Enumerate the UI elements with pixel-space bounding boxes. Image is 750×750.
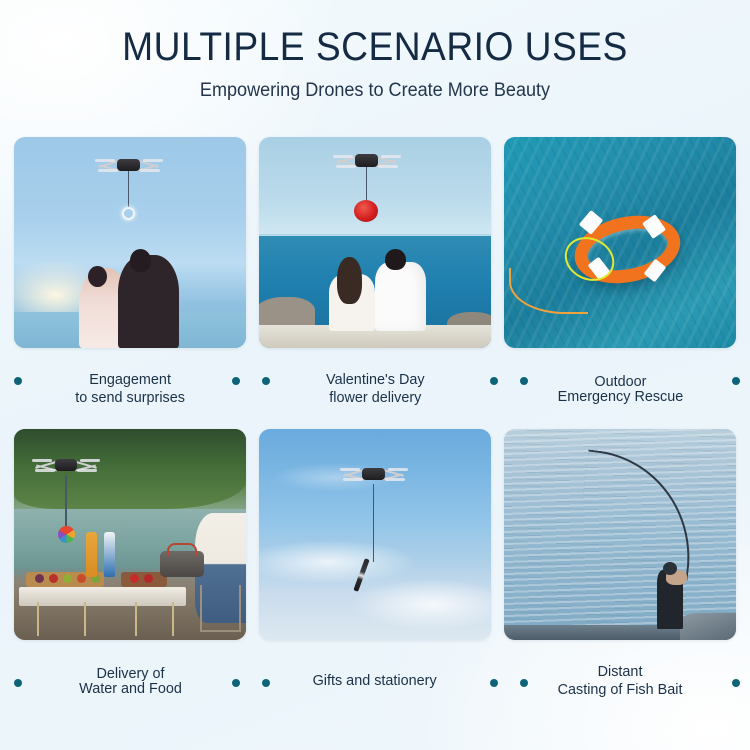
scenario-caption-fish-bait: Distant Casting of Fish Bait — [558, 663, 683, 698]
caption-wrap-gifts: Gifts and stationery — [259, 640, 491, 721]
fruit-item — [49, 574, 58, 583]
kettle-handle — [167, 543, 197, 556]
horizon-line — [259, 235, 491, 236]
scenario-image-rescue[interactable] — [504, 137, 736, 348]
separator-dot — [732, 377, 740, 385]
drone-tether — [65, 475, 67, 528]
separator-dot — [262, 377, 270, 385]
scenario-image-fish-bait[interactable] — [504, 429, 736, 640]
man-figure — [375, 262, 426, 332]
scene-drone-in-sky-delivering-pen — [259, 429, 491, 640]
water-bottle — [104, 532, 115, 576]
table-leg — [84, 602, 86, 636]
table-leg — [135, 602, 137, 636]
scenario-card-fish-bait[interactable]: Distant Casting of Fish Bait — [504, 429, 736, 721]
scenario-caption-engagement: Engagement to send surprises — [75, 371, 185, 406]
separator-dot — [520, 377, 528, 385]
scenario-card-water-food[interactable]: Delivery of Water and Food — [14, 429, 246, 721]
lollipop — [58, 526, 75, 543]
scene-orange-life-ring-floating-on-water — [504, 137, 736, 348]
juice-bottle — [86, 532, 97, 576]
page-subtitle: Empowering Drones to Create More Beauty — [19, 80, 732, 102]
groom-figure — [118, 255, 178, 348]
caption-wrap-rescue: Outdoor Emergency Rescue — [504, 348, 736, 429]
separator-dot — [232, 679, 240, 687]
fruit-item — [130, 574, 139, 583]
separator-dot — [490, 679, 498, 687]
drone-tether — [128, 171, 130, 209]
separator-dot — [14, 679, 22, 687]
separator-dot — [232, 377, 240, 385]
picnic-table — [19, 587, 186, 606]
separator-dot — [732, 679, 740, 687]
scenario-card-engagement[interactable]: Engagement to send surprises — [14, 137, 246, 429]
drone-icon — [35, 454, 97, 476]
rose-bouquet — [354, 200, 378, 222]
scenario-card-rescue[interactable]: Outdoor Emergency Rescue — [504, 137, 736, 429]
caption-wrap-valentines: Valentine's Day flower delivery — [259, 348, 491, 429]
fruit-item — [144, 574, 153, 583]
table-leg — [37, 602, 39, 636]
fruit-item — [77, 574, 86, 583]
page-title: MULTIPLE SCENARIO USES — [26, 24, 724, 70]
scene-lakeside-picnic-drone-delivering-lollipop — [14, 429, 246, 640]
drone-tether — [373, 484, 375, 562]
scenario-card-gifts[interactable]: Gifts and stationery — [259, 429, 491, 721]
caption-wrap-engagement: Engagement to send surprises — [14, 348, 246, 429]
scenario-caption-valentines: Valentine's Day flower delivery — [326, 371, 425, 406]
scenario-grid: Engagement to send surprises — [14, 137, 736, 721]
scenario-image-engagement[interactable] — [14, 137, 246, 348]
scene-angler-casting-rod-into-sea — [504, 429, 736, 640]
separator-dot — [14, 377, 22, 385]
scenario-image-water-food[interactable] — [14, 429, 246, 640]
scenario-image-gifts[interactable] — [259, 429, 491, 640]
table-leg — [172, 602, 174, 636]
man-head — [385, 249, 406, 270]
drone-icon — [336, 150, 398, 172]
separator-dot — [490, 377, 498, 385]
fruit-item — [63, 574, 72, 583]
fruit-item — [35, 574, 44, 583]
page-header: MULTIPLE SCENARIO USES Empowering Drones… — [0, 0, 750, 102]
groom-head — [130, 249, 151, 272]
scenario-caption-water-food: Delivery of Water and Food — [79, 666, 182, 696]
scenario-card-valentines[interactable]: Valentine's Day flower delivery — [259, 137, 491, 429]
caption-wrap-fish-bait: Distant Casting of Fish Bait — [504, 640, 736, 721]
separator-dot — [520, 679, 528, 687]
scenario-caption-rescue: Outdoor Emergency Rescue — [557, 374, 683, 404]
drone-icon — [343, 463, 405, 485]
drone-icon — [98, 154, 160, 176]
shore-boulder — [680, 613, 736, 640]
drone-tether — [366, 167, 368, 203]
engagement-ring — [122, 207, 135, 220]
woman-hair — [337, 257, 363, 303]
scene-seaside-couple-drone-rose-bouquet — [259, 137, 491, 348]
angler-head — [663, 562, 677, 575]
caption-wrap-water-food: Delivery of Water and Food — [14, 640, 246, 721]
separator-dot — [262, 679, 270, 687]
bride-head — [88, 266, 107, 287]
cloud — [345, 577, 491, 632]
scene-couple-with-drone-delivering-ring — [14, 137, 246, 348]
scenario-image-valentines[interactable] — [259, 137, 491, 348]
camp-chair — [200, 585, 242, 631]
scenario-caption-gifts: Gifts and stationery — [313, 672, 437, 690]
